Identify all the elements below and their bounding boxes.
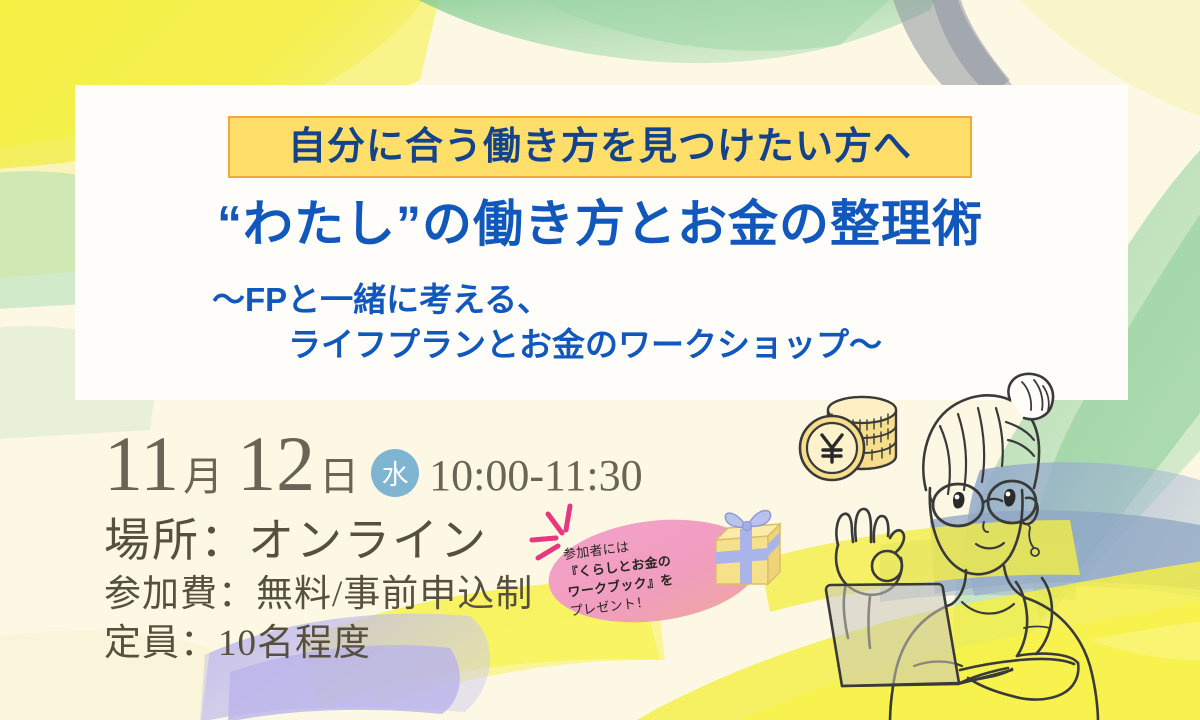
- subtitle-line-2: ライフプランとお金のワークショップ〜: [212, 323, 882, 368]
- event-time: 10:00-11:30: [429, 454, 642, 498]
- page-title: “わたし”の働き方とお金の整理術: [0, 196, 1200, 252]
- event-date-row: 11 月 12 日 水 10:00-11:30: [104, 425, 643, 503]
- event-place: 場所：オンライン: [104, 512, 533, 570]
- event-capacity: 定員：10名程度: [104, 619, 533, 669]
- date-month-unit: 月: [183, 457, 223, 497]
- subtitle-line-1: 〜FPと一緒に考える、: [212, 281, 550, 318]
- date-day-unit: 日: [319, 457, 359, 497]
- event-info-block: 場所：オンライン 参加費：無料/事前申込制 定員：10名程度: [104, 512, 533, 669]
- event-poster: 自分に合う働き方を見つけたい方へ “わたし”の働き方とお金の整理術 〜FPと一緒…: [0, 0, 1200, 720]
- subtitle: 〜FPと一緒に考える、 ライフプランとお金のワークショップ〜: [212, 278, 882, 367]
- headline-badge-text: 自分に合う働き方を見つけたい方へ: [288, 128, 912, 166]
- weekday-circle-badge: 水: [371, 449, 419, 497]
- yen-coin-stack-icon: [800, 397, 896, 480]
- laptop-icon: [812, 558, 1112, 720]
- date-day-number: 12: [237, 425, 315, 503]
- gift-box-icon: [700, 500, 792, 597]
- event-fee: 参加費：無料/事前申込制: [104, 570, 533, 620]
- headline-badge: 自分に合う働き方を見つけたい方へ: [228, 116, 972, 178]
- sparkle-burst-icon: [526, 500, 586, 569]
- date-month-number: 11: [104, 425, 179, 503]
